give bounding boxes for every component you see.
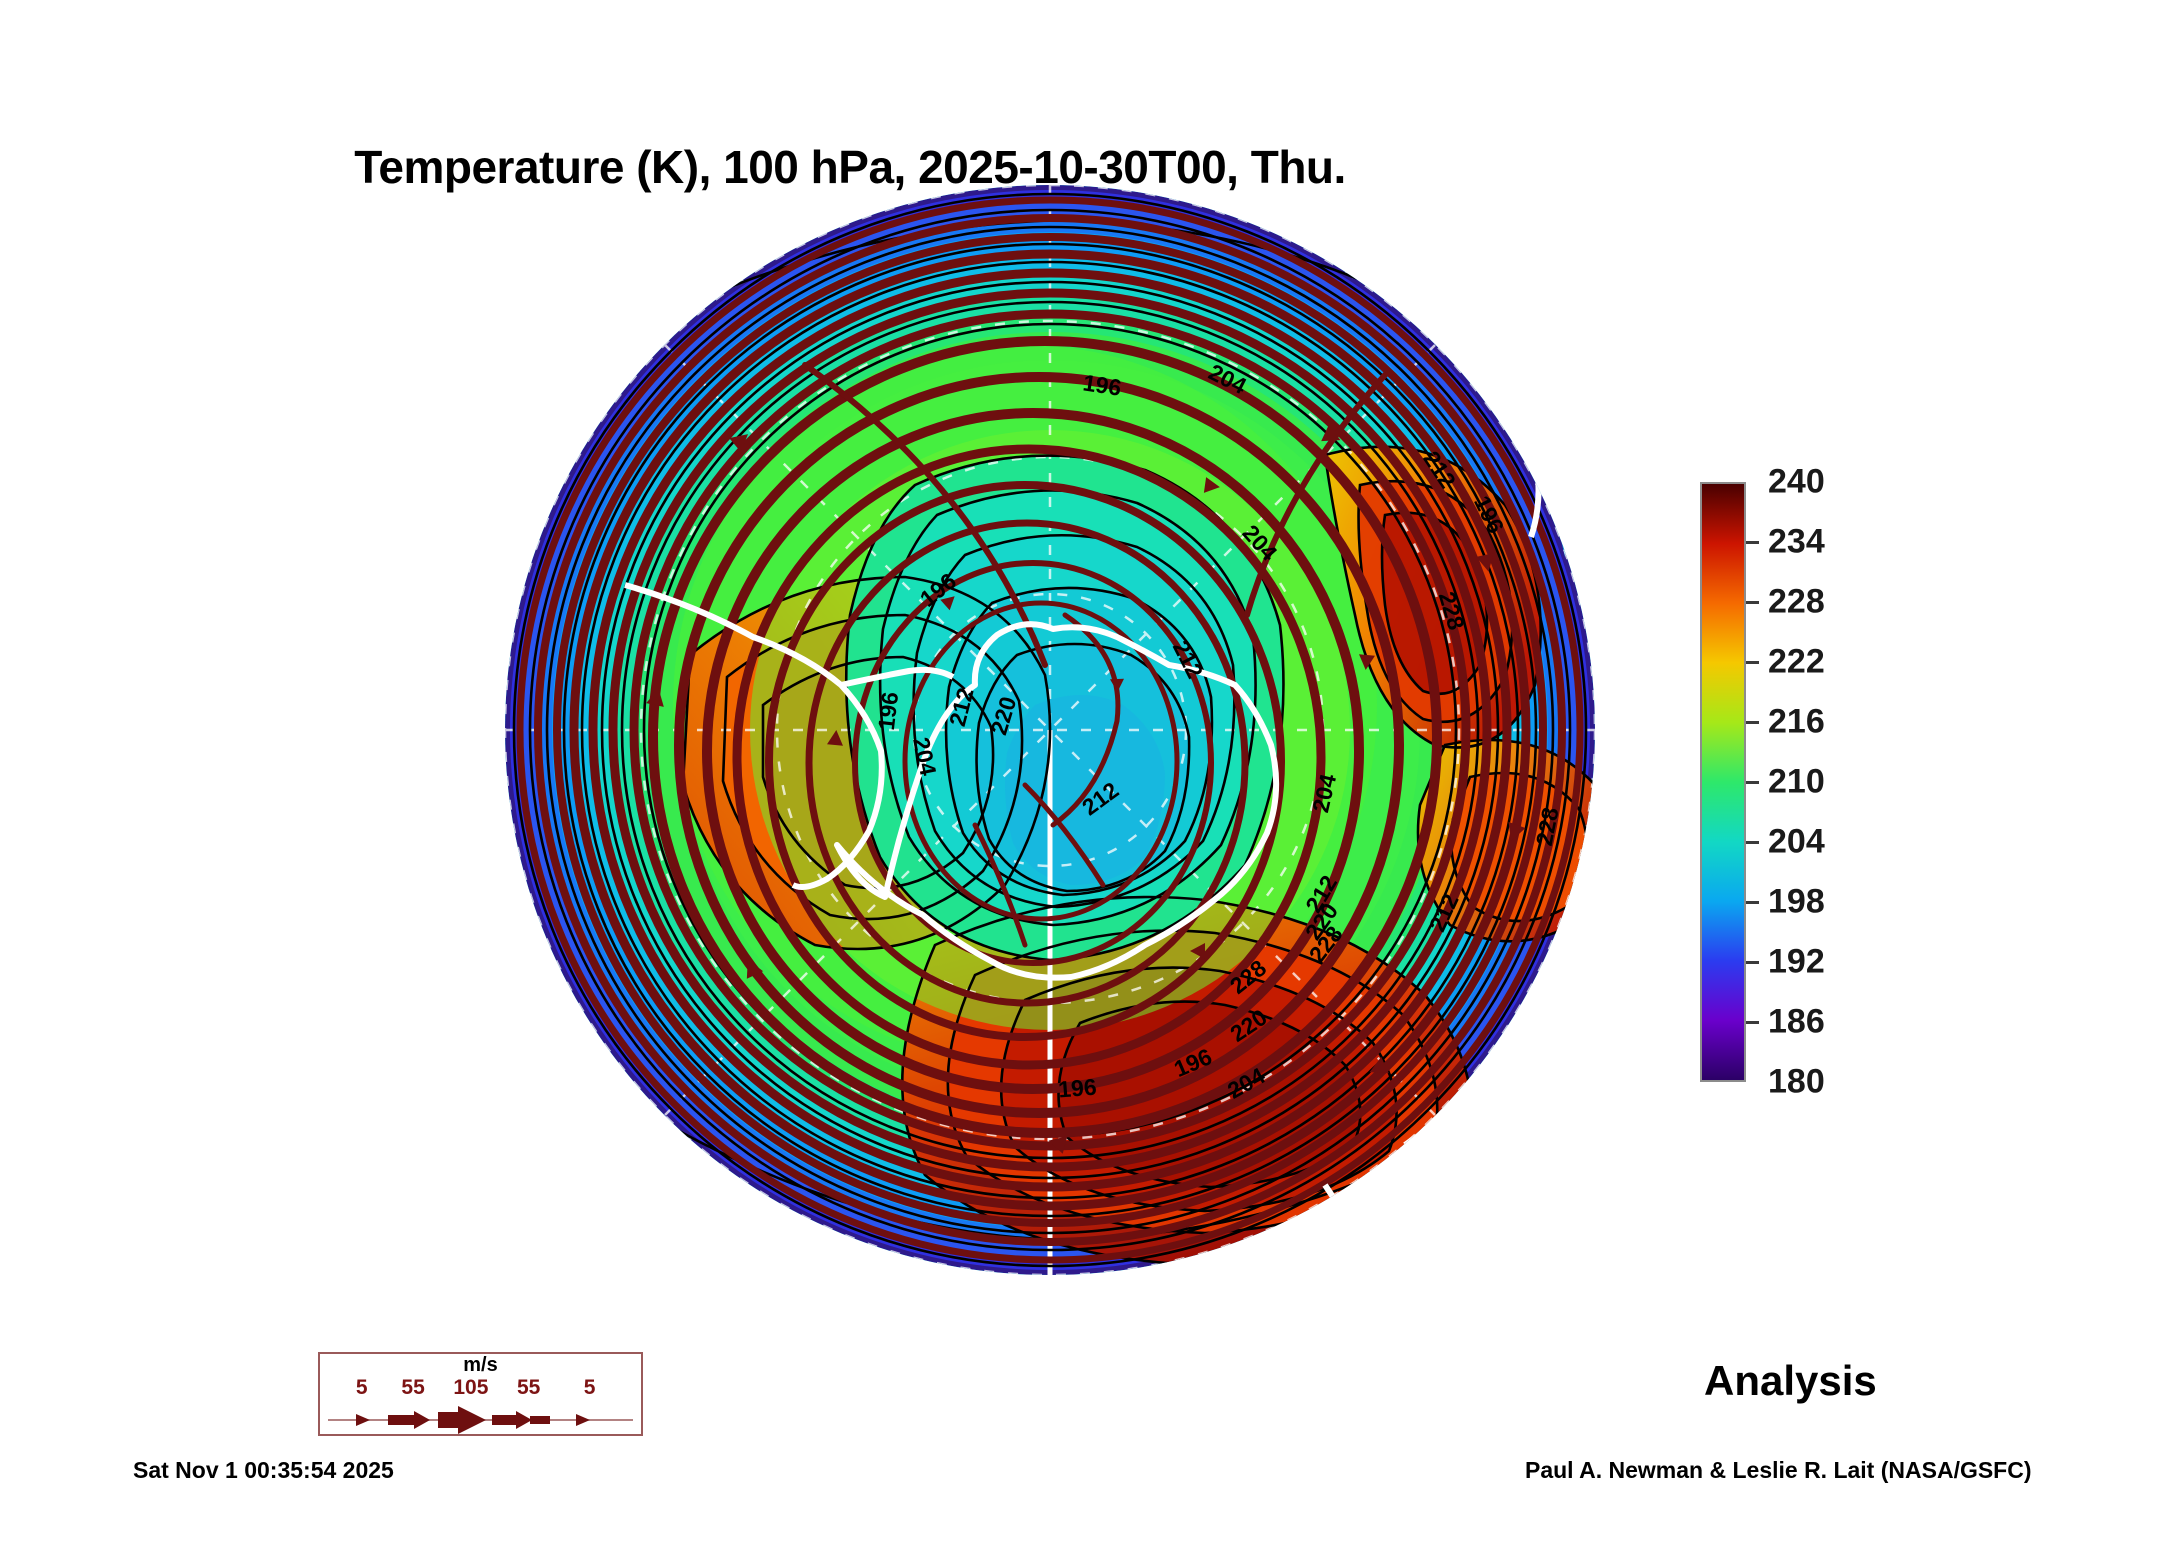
colorbar-tick-label: 234 [1768,523,1825,562]
colorbar-tick [1746,601,1759,604]
map-contents: 1962042121961962042281962121962122202042… [505,185,1595,1275]
colorbar-tick [1746,661,1759,664]
colorbar-tick [1746,541,1759,544]
colorbar-tick [1746,721,1759,724]
colorbar-tick-label: 198 [1768,883,1825,922]
colorbar-tick-label: 180 [1768,1063,1825,1102]
wind-key-value: 5 [356,1376,368,1400]
contour-label: 196 [1057,1074,1097,1103]
wind-key-value: 5 [584,1376,596,1400]
colorbar-tick [1746,781,1759,784]
analysis-label: Analysis [1704,1357,1877,1405]
colorbar-tick-label: 216 [1768,703,1825,742]
colorbar-tick [1746,841,1759,844]
author-credit: Paul A. Newman & Leslie R. Lait (NASA/GS… [1525,1457,2032,1484]
colorbar-tick [1746,961,1759,964]
wind-key-value: 55 [401,1376,424,1400]
map-disc: 1962042121961962042281962121962122202042… [505,185,1595,1275]
wind-key-units-label: m/s [320,1354,641,1377]
wind-key-value: 55 [517,1376,540,1400]
wind-key-arrows [320,1404,641,1436]
colorbar-tick [1746,901,1759,904]
polar-stereographic-map[interactable]: 1962042121961962042281962121962122202042… [505,185,1595,1275]
colorbar-tick [1746,1021,1759,1024]
wind-key-numbers: 555105555 [320,1376,641,1402]
colorbar-labels: 240234228222216210204198192186180 [1768,482,1928,1082]
wind-speed-key: m/s 555105555 [318,1352,643,1436]
colorbar-gradient [1700,482,1746,1082]
colorbar-tick-label: 210 [1768,763,1825,802]
generation-timestamp: Sat Nov 1 00:35:54 2025 [133,1457,394,1484]
colorbar-tick-label: 204 [1768,823,1825,862]
colorbar-tick-label: 186 [1768,1003,1825,1042]
colorbar: 240234228222216210204198192186180 [1700,482,1940,1082]
wind-key-arrow-svg [320,1404,641,1436]
map-svg: 1962042121961962042281962121962122202042… [505,185,1595,1275]
colorbar-tick-label: 222 [1768,643,1825,682]
colorbar-tick-label: 240 [1768,463,1825,502]
wind-key-value: 105 [453,1376,488,1400]
contour-label: 196 [1574,493,1595,538]
contour-label: 196 [873,690,903,731]
colorbar-tick-label: 228 [1768,583,1825,622]
colorbar-ticks [1746,482,1760,1082]
colorbar-tick-label: 192 [1768,943,1825,982]
